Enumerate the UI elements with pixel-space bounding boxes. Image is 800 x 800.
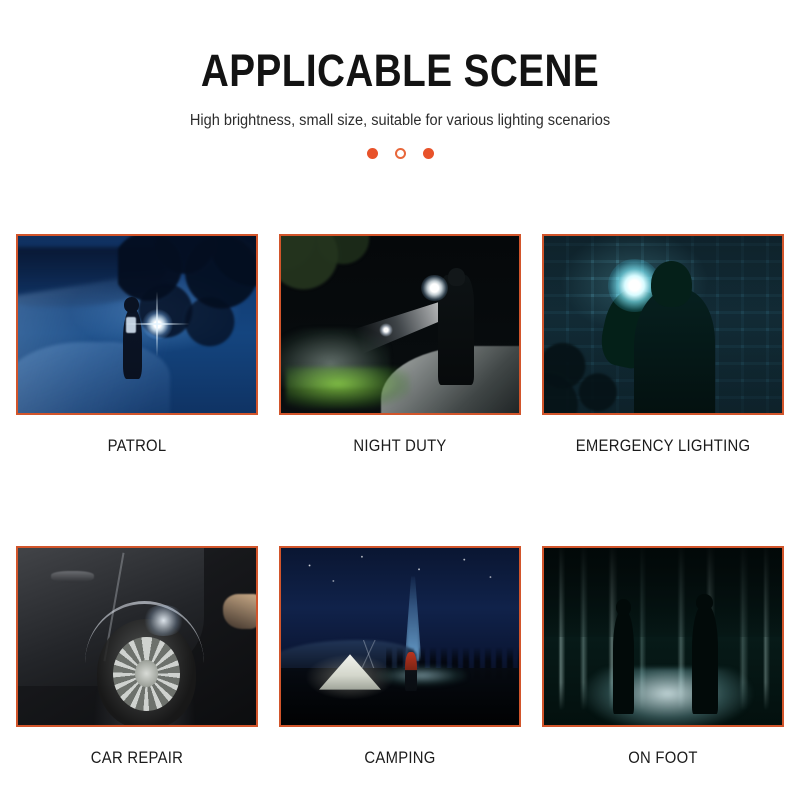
carousel-pagination[interactable] bbox=[0, 146, 800, 160]
scene-label-night-duty: NIGHT DUTY bbox=[291, 437, 509, 456]
distant-light-icon bbox=[379, 323, 393, 337]
scene-grid: PATROL NIGHT DUTY bbox=[0, 234, 800, 768]
scene-card-night-duty[interactable]: NIGHT DUTY bbox=[279, 234, 521, 456]
hiker-silhouette-left bbox=[613, 612, 634, 715]
pagination-dot-2[interactable] bbox=[395, 148, 406, 159]
starry-sky-texture bbox=[281, 548, 519, 645]
patrol-scene-art bbox=[18, 236, 256, 413]
flashlight-spot-glow bbox=[142, 605, 185, 637]
handheld-light-glow bbox=[421, 275, 447, 302]
flashlight-starburst-icon bbox=[142, 309, 173, 339]
scene-label-car-repair: CAR REPAIR bbox=[28, 749, 246, 768]
guard-head-shape bbox=[448, 268, 466, 286]
applicable-scene-page: APPLICABLE SCENE High brightness, small … bbox=[0, 0, 800, 800]
scene-card-patrol[interactable]: PATROL bbox=[16, 234, 258, 456]
person-head-silhouette bbox=[651, 261, 691, 307]
scene-label-on-foot: ON FOOT bbox=[554, 749, 772, 768]
scene-card-on-foot[interactable]: ON FOOT bbox=[542, 546, 784, 768]
alloy-rim-shape bbox=[113, 637, 180, 711]
lit-forest-floor bbox=[582, 668, 753, 727]
hiker-silhouette-right bbox=[692, 605, 718, 715]
scene-row-2: CAR REPAIR bbox=[0, 546, 800, 768]
scene-row-1: PATROL NIGHT DUTY bbox=[0, 234, 800, 456]
on-foot-scene-art bbox=[544, 548, 782, 725]
car-repair-wheel-photo[interactable] bbox=[16, 546, 258, 727]
scene-card-camping[interactable]: CAMPING bbox=[279, 546, 521, 768]
camping-scene-art bbox=[281, 548, 519, 725]
emergency-scene-art bbox=[544, 236, 782, 413]
page-title: APPLICABLE SCENE bbox=[56, 46, 744, 96]
patrol-snowy-road-photo[interactable] bbox=[16, 234, 258, 415]
scene-label-patrol: PATROL bbox=[28, 437, 246, 456]
page-subtitle: High brightness, small size, suitable fo… bbox=[24, 112, 776, 130]
scene-card-emergency-lighting[interactable]: EMERGENCY LIGHTING bbox=[542, 234, 784, 456]
camper-silhouette bbox=[405, 652, 417, 691]
pagination-dot-1[interactable] bbox=[367, 148, 378, 159]
snow-bank-shape bbox=[16, 342, 170, 415]
car-repair-scene-art bbox=[18, 548, 256, 725]
dark-canopy-shape bbox=[544, 548, 782, 637]
scene-label-camping: CAMPING bbox=[291, 749, 509, 768]
scene-card-car-repair[interactable]: CAR REPAIR bbox=[16, 546, 258, 768]
night-duty-guard-photo[interactable] bbox=[279, 234, 521, 415]
scene-label-emergency-lighting: EMERGENCY LIGHTING bbox=[554, 437, 772, 456]
night-duty-scene-art bbox=[281, 236, 519, 413]
door-handle-shape bbox=[51, 571, 94, 582]
emergency-lighting-silhouette-photo[interactable] bbox=[542, 234, 784, 415]
on-foot-forest-photo[interactable] bbox=[542, 546, 784, 727]
camping-tent-beam-photo[interactable] bbox=[279, 546, 521, 727]
pagination-dot-3[interactable] bbox=[423, 148, 434, 159]
page-header: APPLICABLE SCENE High brightness, small … bbox=[0, 0, 800, 160]
lit-grass-shape bbox=[286, 367, 410, 409]
person-torso-silhouette bbox=[634, 289, 715, 415]
tree-canopy-shape bbox=[279, 234, 433, 310]
hand-with-flashlight-shape bbox=[223, 594, 258, 629]
